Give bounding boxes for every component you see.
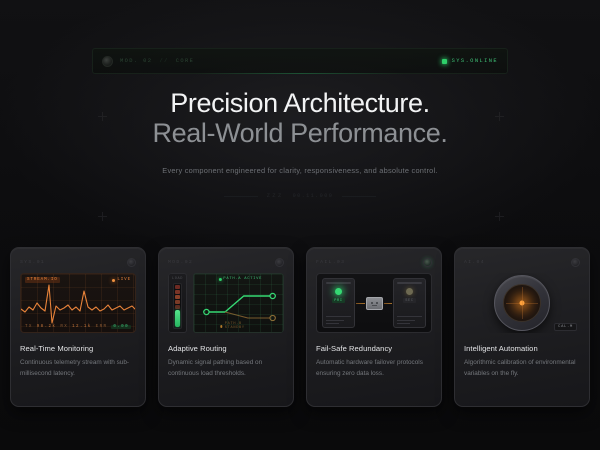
status-bar-module-label: MOD. 02 <box>120 58 152 64</box>
card-description: Automatic hardware failover protocols en… <box>316 358 432 379</box>
page-root: MOD. 02 // CORE SYS.ONLINE Precision Arc… <box>0 0 600 450</box>
load-meter-label: LOAD <box>172 277 183 281</box>
path-a-label: PATH.A ACTIVE <box>223 277 262 281</box>
metric-rule-left <box>224 196 258 197</box>
metric-rule-right <box>342 196 376 197</box>
system-online-status: SYS.ONLINE <box>452 58 498 64</box>
metric-prefix: ZZZ <box>267 193 284 199</box>
feature-card-adaptive-routing[interactable]: MOD.02 LOAD <box>158 247 294 407</box>
node-dot-icon[interactable] <box>127 258 136 267</box>
card-header: MOD.02 <box>168 256 284 268</box>
rack-cap <box>326 282 351 284</box>
card-tag: MOD.02 <box>168 260 193 265</box>
meter-segment <box>175 285 181 289</box>
card-header: FAIL.03 <box>316 256 432 268</box>
metric-err: ERR 0.00 <box>96 325 131 329</box>
led-green-icon <box>335 288 342 295</box>
feature-card-intelligent-automation[interactable]: AI.04 CAL.M Intelligent Automation Algor… <box>454 247 590 407</box>
status-bar-core-label: CORE <box>176 58 195 64</box>
hero-headline-line-2: Real-World Performance. <box>0 118 600 149</box>
secondary-badge: SEC <box>403 298 416 303</box>
sphere-orb-icon <box>102 56 113 67</box>
waveform-path <box>21 282 136 326</box>
hub-switch-icon <box>366 297 383 310</box>
status-bar-separator: // <box>159 58 168 64</box>
status-bar-right: SYS.ONLINE <box>442 58 498 64</box>
hero-subtitle: Every component engineered for clarity, … <box>0 166 600 175</box>
failover-visual: PRI SEC <box>316 273 432 333</box>
feature-card-real-time-monitoring[interactable]: SYS.01 STREAM.IO LIVE TX 98.2k <box>10 247 146 407</box>
meter-segment <box>175 290 181 294</box>
metric-err-value: 0.00 <box>111 325 131 329</box>
primary-badge: PRI <box>332 298 345 303</box>
routing-visual: LOAD PATH.A ACTIVE <box>168 273 284 333</box>
metric-value: 00.11.000 <box>293 193 334 199</box>
dial-badge: CAL.M <box>554 323 577 331</box>
corner-crosshair-icon <box>98 212 107 221</box>
standby-dot-icon <box>220 325 223 328</box>
status-dot-icon <box>442 59 447 64</box>
primary-server-rack: PRI <box>322 278 355 328</box>
dial-core-glow-icon <box>520 301 525 306</box>
card-description: Algorithmic calibration of environmental… <box>464 358 580 379</box>
hero-headline-line-1: Precision Architecture. <box>0 88 600 118</box>
card-description: Continuous telemetry stream with sub-mil… <box>20 358 136 379</box>
hero-metric-readout: ZZZ 00.11.000 <box>0 193 600 199</box>
led-amber-icon <box>406 288 413 295</box>
node-dot-icon[interactable] <box>275 258 284 267</box>
card-title: Intelligent Automation <box>464 344 580 353</box>
metric-tx-value: 98.2k <box>37 325 57 329</box>
routing-path-chart: PATH.A ACTIVE PATH.B STANDBY <box>193 273 284 333</box>
path-b-indicator: PATH.B STANDBY <box>220 322 265 330</box>
metric-rx-key: RX <box>60 325 68 329</box>
failover-wire-right <box>384 303 393 304</box>
card-title: Real-Time Monitoring <box>20 344 136 353</box>
metric-rx: RX 12.1k <box>60 325 91 329</box>
rack-lines <box>326 314 351 325</box>
rack-lines <box>397 314 422 325</box>
meter-fill <box>175 310 180 327</box>
card-title: Fail-Safe Redundancy <box>316 344 432 353</box>
metric-err-key: ERR <box>96 325 108 329</box>
node-dot-icon[interactable] <box>571 258 580 267</box>
node-dot-hot-icon[interactable] <box>423 258 432 267</box>
path-a-indicator: PATH.A ACTIVE <box>218 277 262 281</box>
path-b-label: PATH.B STANDBY <box>225 322 265 330</box>
card-tag: AI.04 <box>464 260 485 265</box>
feature-card-row: SYS.01 STREAM.IO LIVE TX 98.2k <box>10 247 590 407</box>
active-dot-icon <box>218 278 221 281</box>
card-header: AI.04 <box>464 256 580 268</box>
meter-segment <box>175 295 181 299</box>
corner-crosshair-icon <box>495 212 504 221</box>
metric-tx: TX 98.2k <box>25 325 56 329</box>
feature-card-fail-safe-redundancy[interactable]: FAIL.03 PRI SEC <box>306 247 442 407</box>
card-description: Dynamic signal pathing based on continuo… <box>168 358 284 379</box>
card-header: SYS.01 <box>20 256 136 268</box>
rack-cap <box>397 282 422 284</box>
load-meter: LOAD <box>168 273 187 333</box>
card-tag: SYS.01 <box>20 260 45 265</box>
telemetry-waveform-chart: STREAM.IO LIVE TX 98.2k RX 12.1k ERR 0.0 <box>20 273 136 333</box>
system-status-bar: MOD. 02 // CORE SYS.ONLINE <box>92 48 508 74</box>
hero-section: Precision Architecture. Real-World Perfo… <box>0 88 600 199</box>
secondary-server-rack: SEC <box>393 278 426 328</box>
card-title: Adaptive Routing <box>168 344 284 353</box>
chart-footer-metrics: TX 98.2k RX 12.1k ERR 0.00 <box>25 325 131 329</box>
calibration-dial[interactable] <box>494 275 550 331</box>
card-tag: FAIL.03 <box>316 260 345 265</box>
load-meter-bar <box>173 283 182 329</box>
metric-tx-key: TX <box>25 325 33 329</box>
dial-inner-face <box>503 284 541 322</box>
meter-segment <box>175 300 181 304</box>
meter-segment <box>175 305 181 309</box>
calibration-dial-visual: CAL.M <box>464 273 580 333</box>
metric-rx-value: 12.1k <box>72 325 92 329</box>
failover-wire-left <box>356 303 365 304</box>
status-bar-left: MOD. 02 // CORE <box>102 56 194 67</box>
